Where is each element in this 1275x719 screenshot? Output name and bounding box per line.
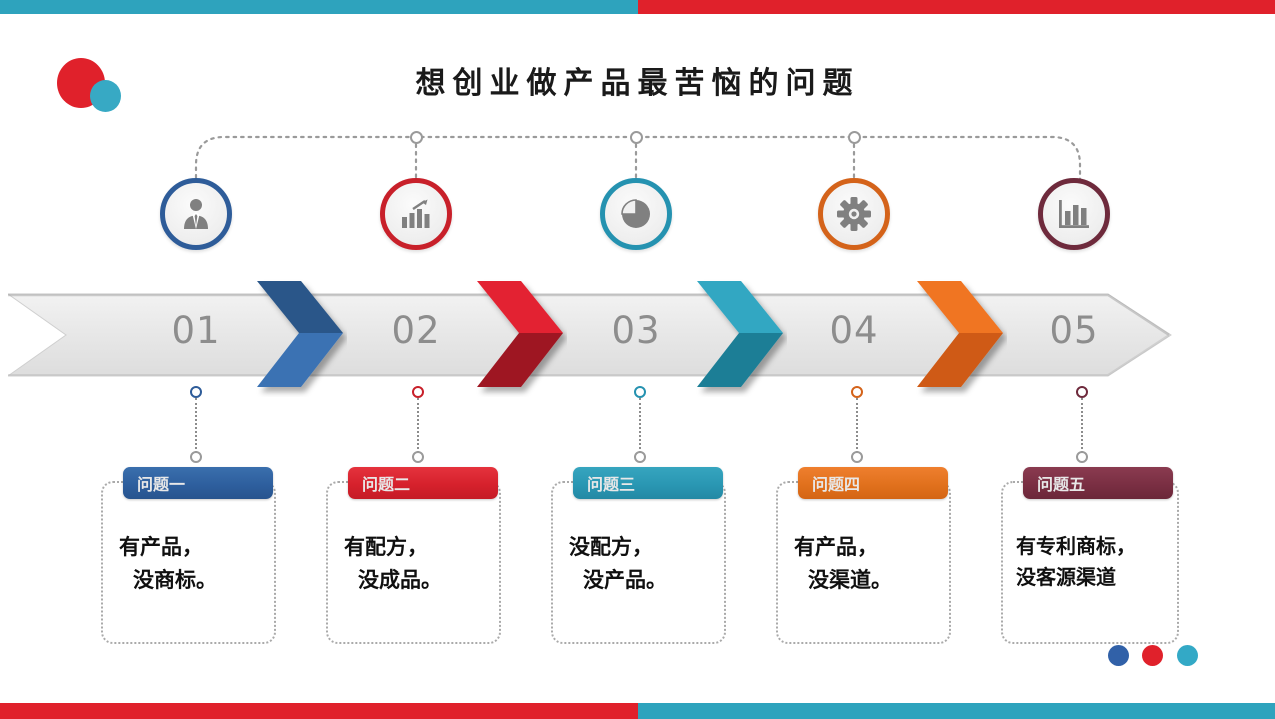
- page-title: 想创业做产品最苦恼的问题: [0, 58, 1275, 102]
- marker-top-03: [634, 386, 646, 398]
- stem-01: [195, 398, 197, 453]
- problem-card-01-line1: 有产品，: [119, 531, 258, 564]
- problem-card-01[interactable]: 问题一 有产品， 没商标。: [101, 481, 276, 644]
- problem-card-03-label: 问题三: [587, 471, 635, 495]
- marker-bottom-04: [851, 451, 863, 463]
- problem-card-01-line2: 没商标。: [119, 564, 258, 597]
- footer-dot-blue: [1108, 645, 1129, 666]
- chevron-01: [253, 277, 347, 397]
- problem-card-04-line1: 有产品，: [794, 531, 933, 564]
- step-icon-03-pie-chart-icon[interactable]: [600, 178, 672, 250]
- step-number-03: 03: [576, 309, 696, 352]
- step-icon-05-bar-chart-axis-icon[interactable]: [1038, 178, 1110, 250]
- problem-card-02-body: 有配方， 没成品。: [328, 531, 499, 596]
- problem-card-05-line2: 没客源渠道: [1016, 562, 1164, 593]
- marker-bottom-05: [1076, 451, 1088, 463]
- bottom-bar-right-segment: [638, 703, 1275, 719]
- problem-card-04-header: 问题四: [798, 467, 948, 499]
- marker-bottom-02: [412, 451, 424, 463]
- problem-card-04-line2: 没渠道。: [794, 564, 933, 597]
- problem-card-01-body: 有产品， 没商标。: [103, 531, 274, 596]
- marker-bottom-03: [634, 451, 646, 463]
- problem-card-02-line1: 有配方，: [344, 531, 483, 564]
- problem-card-05[interactable]: 问题五 有专利商标， 没客源渠道: [1001, 481, 1179, 644]
- problem-card-05-body: 有专利商标， 没客源渠道: [1003, 531, 1177, 593]
- problem-card-05-header: 问题五: [1023, 467, 1173, 499]
- marker-top-04: [851, 386, 863, 398]
- problem-card-01-label: 问题一: [137, 471, 185, 495]
- businessman-icon: [178, 196, 214, 232]
- top-bar-right-segment: [638, 0, 1275, 14]
- chevron-03: [693, 277, 787, 397]
- stem-03: [639, 398, 641, 453]
- step-icon-01-businessman-icon[interactable]: [160, 178, 232, 250]
- problem-card-04[interactable]: 问题四 有产品， 没渠道。: [776, 481, 951, 644]
- rail-node-03: [630, 131, 643, 144]
- stem-05: [1081, 398, 1083, 453]
- stem-04: [856, 398, 858, 453]
- gear-icon: [836, 196, 872, 232]
- step-number-05: 05: [1014, 309, 1134, 352]
- problem-card-03-header: 问题三: [573, 467, 723, 499]
- problem-card-05-line1: 有专利商标，: [1016, 531, 1164, 562]
- problem-card-03-body: 没配方， 没产品。: [553, 531, 724, 596]
- problem-card-02-header: 问题二: [348, 467, 498, 499]
- step-number-01: 01: [136, 309, 256, 352]
- problem-card-05-label: 问题五: [1037, 471, 1085, 495]
- bar-chart-arrow-icon: [399, 198, 433, 230]
- marker-top-01: [190, 386, 202, 398]
- footer-dots: [1108, 645, 1207, 666]
- marker-bottom-01: [190, 451, 202, 463]
- chevron-04: [913, 277, 1007, 397]
- bar-chart-axis-icon: [1057, 198, 1091, 230]
- top-decorative-bar: [0, 0, 1275, 14]
- marker-top-02: [412, 386, 424, 398]
- problem-card-02-line2: 没成品。: [344, 564, 483, 597]
- step-number-04: 04: [794, 309, 914, 352]
- problem-card-03-line2: 没产品。: [569, 564, 708, 597]
- pie-chart-icon: [618, 196, 654, 232]
- footer-dot-teal: [1177, 645, 1198, 666]
- problem-card-02-label: 问题二: [362, 471, 410, 495]
- step-number-02: 02: [356, 309, 476, 352]
- problem-card-02[interactable]: 问题二 有配方， 没成品。: [326, 481, 501, 644]
- chevron-02: [473, 277, 567, 397]
- step-icon-04-gear-icon[interactable]: [818, 178, 890, 250]
- rail-node-04: [848, 131, 861, 144]
- problem-card-01-header: 问题一: [123, 467, 273, 499]
- rail-node-02: [410, 131, 423, 144]
- problem-card-04-body: 有产品， 没渠道。: [778, 531, 949, 596]
- top-bar-left-segment: [0, 0, 638, 14]
- bottom-decorative-bar: [0, 703, 1275, 719]
- problem-card-03-line1: 没配方，: [569, 531, 708, 564]
- marker-top-05: [1076, 386, 1088, 398]
- step-icon-02-bar-chart-arrow-icon[interactable]: [380, 178, 452, 250]
- bottom-bar-left-segment: [0, 703, 638, 719]
- problem-card-04-label: 问题四: [812, 471, 860, 495]
- stem-02: [417, 398, 419, 453]
- footer-dot-red: [1142, 645, 1163, 666]
- problem-card-03[interactable]: 问题三 没配方， 没产品。: [551, 481, 726, 644]
